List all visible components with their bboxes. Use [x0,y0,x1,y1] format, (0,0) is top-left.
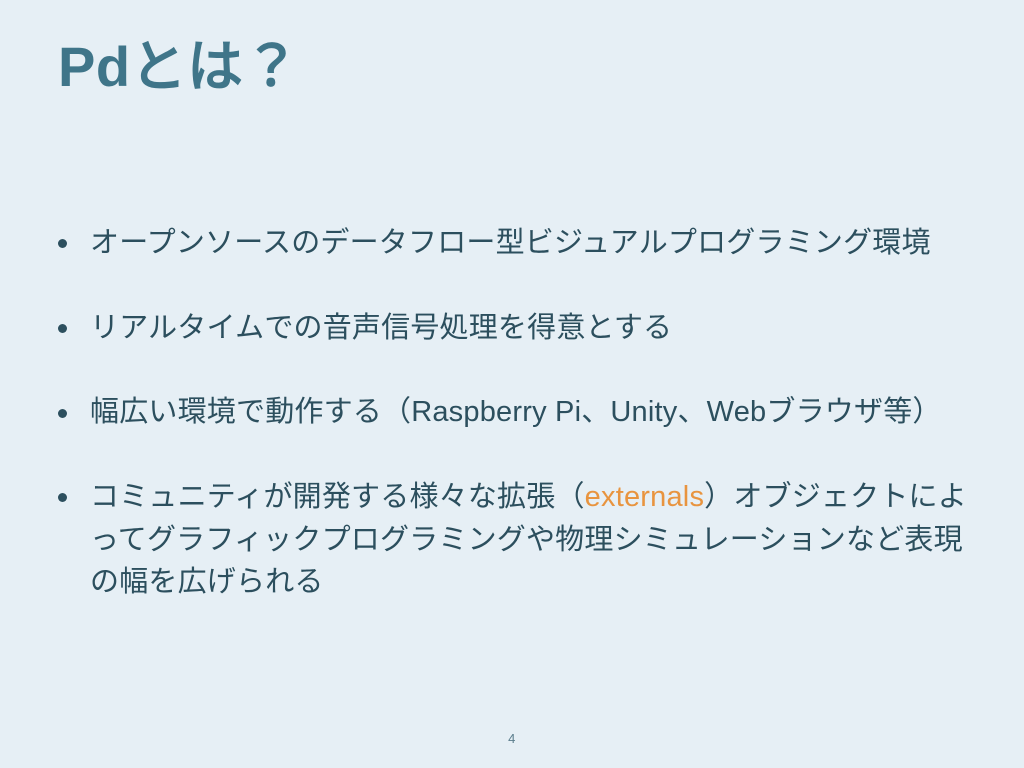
page-number: 4 [0,731,1024,746]
page-title: Pdとは？ [58,36,300,99]
bullet-point-icon [58,409,67,418]
bullet-list: オープンソースのデータフロー型ビジュアルプログラミング環境 リアルタイムでの音声… [52,222,980,604]
highlighted-term-externals: externals [585,481,704,513]
bullet-text-before-highlight: コミュニティが開発する様々な拡張（ [90,481,585,513]
list-item: リアルタイムでの音声信号処理を得意とする [52,307,980,350]
bullet-text: オープンソースのデータフロー型ビジュアルプログラミング環境 [90,222,980,265]
bullet-text: コミュニティが開発する様々な拡張（externals）オブジェクトによってグラフ… [90,476,980,604]
list-item: 幅広い環境で動作する（Raspberry Pi、Unity、Webブラウザ等） [52,391,980,434]
slide-root: Pdとは？ オープンソースのデータフロー型ビジュアルプログラミング環境 リアルタ… [0,0,1024,768]
bullet-text: リアルタイムでの音声信号処理を得意とする [90,307,980,350]
list-item: コミュニティが開発する様々な拡張（externals）オブジェクトによってグラフ… [52,476,980,604]
bullet-point-icon [58,493,67,502]
bullet-point-icon [58,239,67,248]
bullet-point-icon [58,324,67,333]
list-item: オープンソースのデータフロー型ビジュアルプログラミング環境 [52,222,980,265]
bullet-text: 幅広い環境で動作する（Raspberry Pi、Unity、Webブラウザ等） [90,391,980,434]
